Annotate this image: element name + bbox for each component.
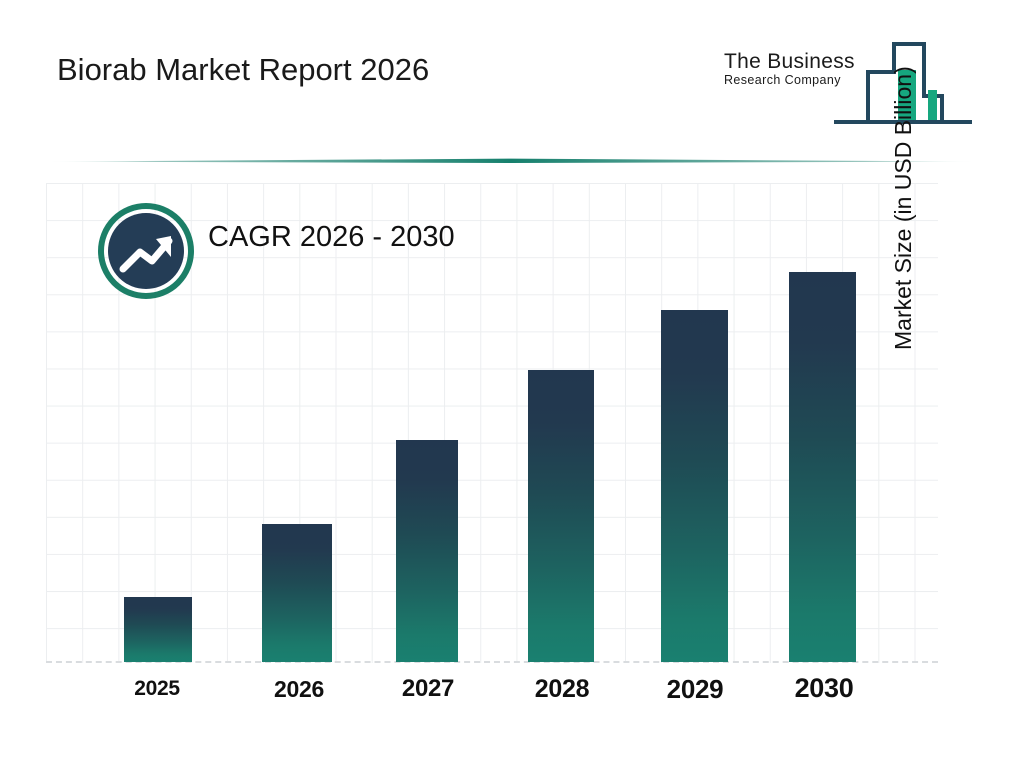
x-axis-label-2026: 2026 xyxy=(229,676,369,703)
bar-2029 xyxy=(661,310,728,662)
x-axis-label-2027: 2027 xyxy=(358,675,498,703)
bar-2028 xyxy=(528,370,594,662)
chart-bars-layer: 202520262027202820292030 xyxy=(0,0,1024,768)
bar-2027 xyxy=(396,440,458,662)
bar-2026 xyxy=(262,524,332,662)
x-axis-label-2030: 2030 xyxy=(754,673,894,704)
x-axis-label-2025: 2025 xyxy=(87,677,227,701)
cagr-label: CAGR 2026 - 2030 xyxy=(208,221,455,254)
bar-2030 xyxy=(789,272,856,662)
trending-up-arrow-icon xyxy=(98,203,194,299)
y-axis-title: Market Size (in USD Billion) xyxy=(890,0,930,350)
x-axis-label-2029: 2029 xyxy=(625,674,765,705)
bar-2025 xyxy=(124,597,192,662)
x-axis-label-2028: 2028 xyxy=(492,675,632,704)
